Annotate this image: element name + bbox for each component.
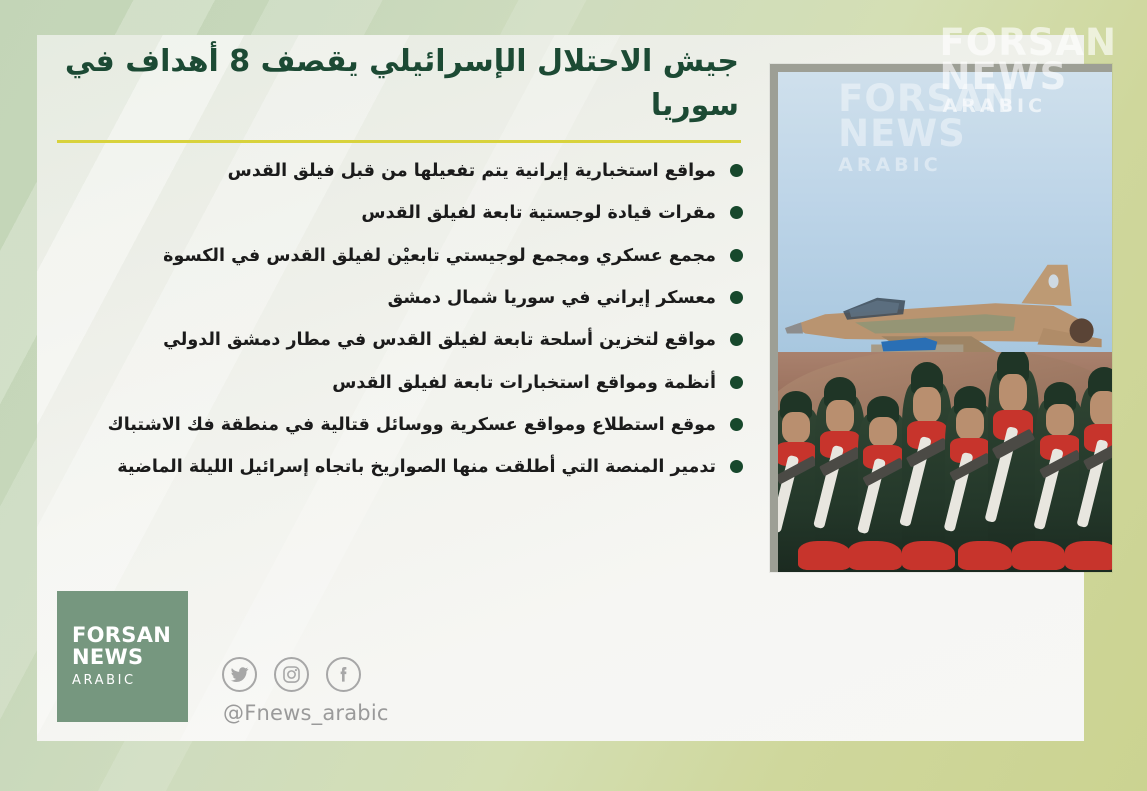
bullet-dot-icon: [730, 333, 743, 346]
bullet-dot-icon: [730, 206, 743, 219]
bullet-dot-icon: [730, 291, 743, 304]
list-item-label: مواقع استخبارية إيرانية يتم تفعيلها من ق…: [43, 157, 716, 185]
text-column: جيش الاحتلال الإسرائيلي يقصف 8 أهداف في …: [43, 12, 743, 496]
boot: [798, 541, 851, 570]
list-item: مواقع استخبارية إيرانية يتم تفعيلها من ق…: [43, 157, 743, 185]
logo-line-3: ARABIC: [72, 673, 188, 688]
list-item-label: تدمير المنصة التي أطلقت منها الصواريخ با…: [43, 453, 716, 481]
boot: [1012, 541, 1065, 570]
list-item-label: معسكر إيراني في سوريا شمال دمشق: [43, 284, 716, 312]
targets-list: مواقع استخبارية إيرانية يتم تفعيلها من ق…: [43, 157, 743, 482]
list-item: مواقع لتخزين أسلحة تابعة لفيلق القدس في …: [43, 326, 743, 354]
list-item: موقع استطلاع ومواقع عسكرية ووسائل قتالية…: [43, 411, 743, 439]
photo-frame: FORSAN NEWS ARABIC: [770, 64, 1112, 572]
boot: [848, 541, 901, 570]
facebook-icon[interactable]: [326, 657, 361, 692]
news-photo: FORSAN NEWS ARABIC: [778, 72, 1112, 572]
list-item-label: مقرات قيادة لوجستية تابعة لفيلق القدس: [43, 199, 716, 227]
twitter-icon[interactable]: [222, 657, 257, 692]
list-item-label: موقع استطلاع ومواقع عسكرية ووسائل قتالية…: [43, 411, 716, 439]
bullet-dot-icon: [730, 164, 743, 177]
list-item-label: مواقع لتخزين أسلحة تابعة لفيلق القدس في …: [43, 326, 716, 354]
list-item: تدمير المنصة التي أطلقت منها الصواريخ با…: [43, 453, 743, 481]
list-item: مقرات قيادة لوجستية تابعة لفيلق القدس: [43, 199, 743, 227]
bullet-dot-icon: [730, 418, 743, 431]
social-icon-row: [222, 657, 389, 692]
infographic-poster: FORSAN NEWS ARABIC: [0, 0, 1147, 791]
bullet-dot-icon: [730, 376, 743, 389]
list-item-label: أنظمة ومواقع استخبارات تابعة لفيلق القدس: [43, 369, 716, 397]
brand-logo: FORSAN NEWS ARABIC: [57, 591, 188, 722]
boot: [958, 541, 1011, 570]
list-item: معسكر إيراني في سوريا شمال دمشق: [43, 284, 743, 312]
list-item-label: مجمع عسكري ومجمع لوجيستي تابعيْن لفيلق ا…: [43, 242, 716, 270]
page-title: جيش الاحتلال الإسرائيلي يقصف 8 أهداف في …: [43, 12, 743, 127]
boot: [902, 541, 955, 570]
bullet-dot-icon: [730, 460, 743, 473]
logo-line-1: FORSAN: [72, 625, 188, 646]
soldiers-parade-illustration: [778, 352, 1112, 572]
instagram-icon[interactable]: [274, 657, 309, 692]
title-accent-rule: [57, 140, 741, 143]
list-item: مجمع عسكري ومجمع لوجيستي تابعيْن لفيلق ا…: [43, 242, 743, 270]
list-item: أنظمة ومواقع استخبارات تابعة لفيلق القدس: [43, 369, 743, 397]
social-handle[interactable]: @Fnews_arabic: [223, 701, 389, 725]
logo-line-2: NEWS: [72, 647, 188, 668]
social-links: @Fnews_arabic: [222, 657, 389, 725]
boot: [1065, 541, 1112, 570]
bullet-dot-icon: [730, 249, 743, 262]
